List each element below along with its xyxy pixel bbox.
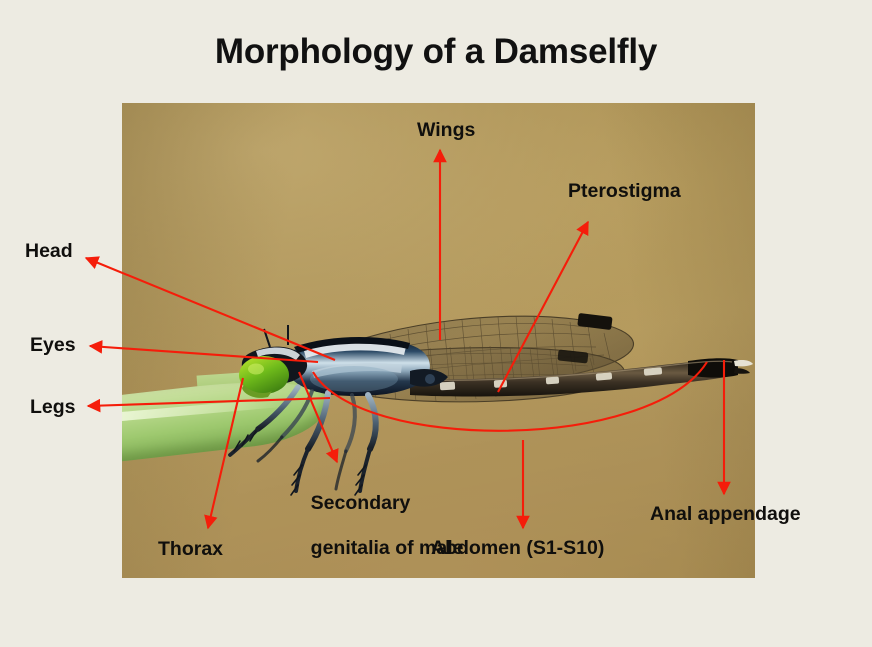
antenna-left — [264, 329, 270, 347]
label-secondary-genitalia-line1: Secondary — [311, 492, 411, 514]
label-wings: Wings — [417, 119, 475, 141]
slide: Morphology of a Damselfly — [0, 0, 872, 647]
anal-appendage — [734, 360, 753, 366]
label-anal-appendage: Anal appendage — [650, 503, 801, 525]
label-eyes: Eyes — [30, 334, 76, 356]
label-head: Head — [25, 240, 73, 262]
label-pterostigma: Pterostigma — [568, 180, 681, 202]
label-thorax: Thorax — [158, 538, 223, 560]
label-abdomen: Abdomen (S1-S10) — [431, 537, 604, 559]
label-secondary-genitalia: Secondary genitalia of male — [289, 470, 463, 581]
label-legs: Legs — [30, 396, 76, 418]
page-title: Morphology of a Damselfly — [0, 32, 872, 72]
